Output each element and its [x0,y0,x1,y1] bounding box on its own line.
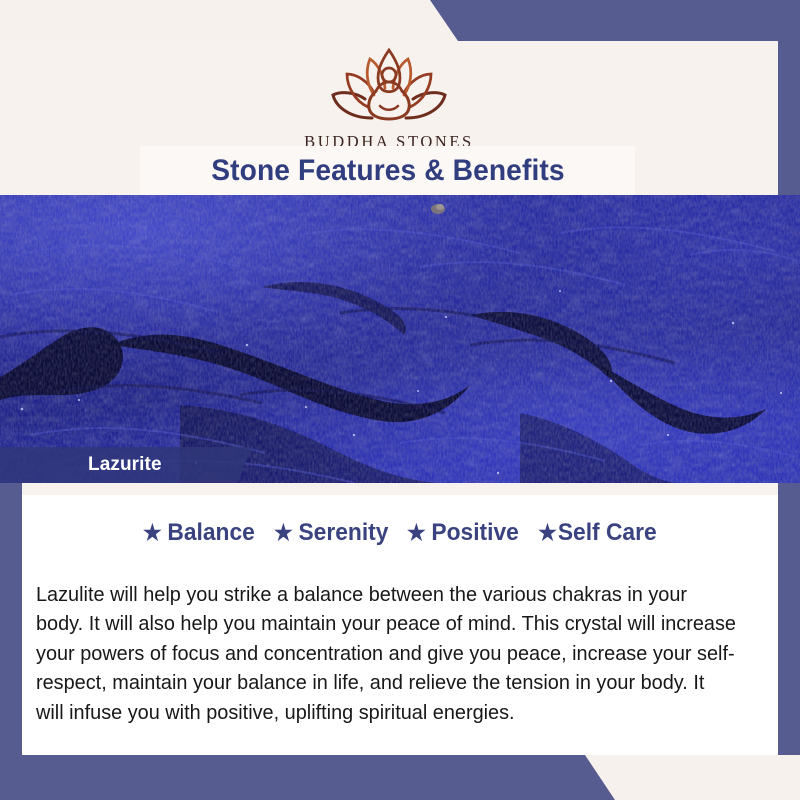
page-title: Stone Features & Benefits [211,154,564,188]
feature-item-self-care: ★ Self Care [538,519,657,547]
page-title-banner: Stone Features & Benefits [140,146,635,195]
stone-info-card: BUDDHA STONES [0,0,800,800]
feature-keyword-row: ★ Balance ★ Serenity ★ Positive ★ Self C… [22,519,778,547]
star-icon: ★ [274,522,293,544]
star-icon: ★ [538,522,557,544]
frame-accent-bottom [0,755,800,800]
lazurite-stone-closeup-photo [0,195,800,483]
feature-label: Balance [167,519,254,547]
frame-accent-left [0,483,22,755]
lotus-meditation-figure-icon [324,43,454,131]
star-icon: ★ [143,522,162,544]
feature-label: Serenity [298,519,388,547]
stone-description-text: Lazulite will help you strike a balance … [36,580,736,728]
stone-name-tag: Lazurite [0,447,252,483]
feature-label: Self Care [558,519,657,547]
stone-name-label: Lazurite [0,454,162,476]
feature-label: Positive [432,519,519,547]
feature-item-balance: ★ Balance [143,519,255,547]
frame-accent-top [0,0,800,41]
feature-item-serenity: ★ Serenity [274,519,388,547]
feature-item-positive: ★ Positive [407,519,519,547]
stone-description-panel: ★ Balance ★ Serenity ★ Positive ★ Self C… [22,483,778,755]
star-icon: ★ [407,522,426,544]
panel-top-strip [22,483,778,495]
